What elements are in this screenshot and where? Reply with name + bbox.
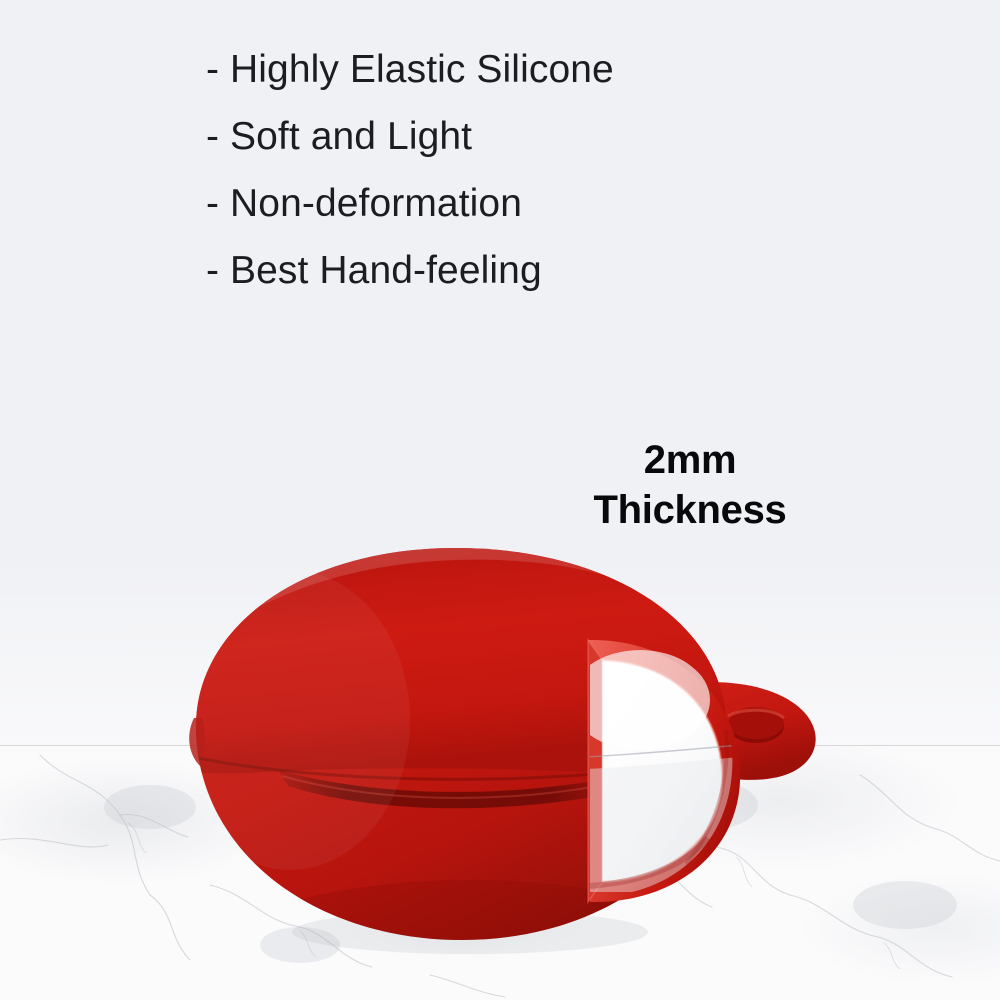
bottom-shading <box>170 880 770 970</box>
product-image-silicone-case <box>170 520 850 970</box>
feature-item: - Non-deformation <box>206 170 826 237</box>
feature-list: - Highly Elastic Silicone - Soft and Lig… <box>206 36 826 304</box>
feature-item: - Soft and Light <box>206 103 826 170</box>
cutaway-cross-section <box>570 640 790 920</box>
feature-item: - Best Hand-feeling <box>206 237 826 304</box>
product-feature-image: - Highly Elastic Silicone - Soft and Lig… <box>0 0 1000 1000</box>
feature-item: - Highly Elastic Silicone <box>206 36 826 103</box>
thickness-value: 2mm <box>540 436 840 484</box>
